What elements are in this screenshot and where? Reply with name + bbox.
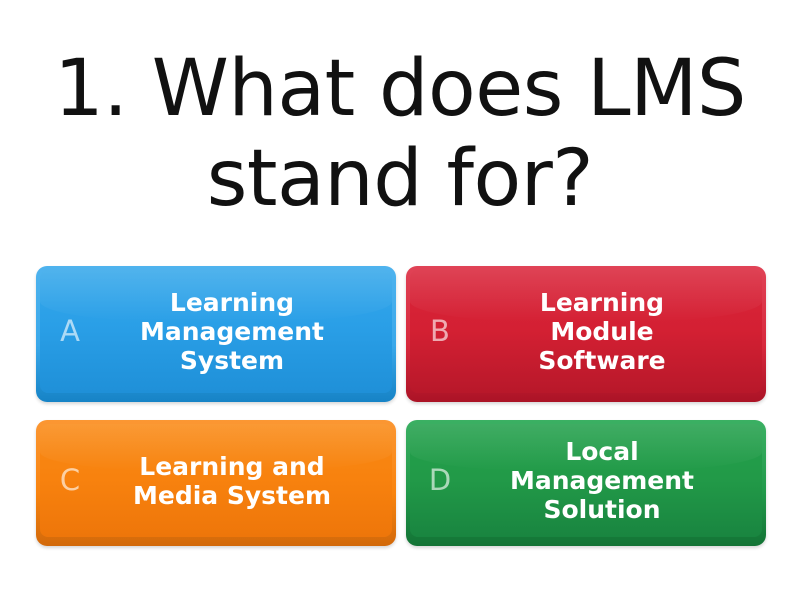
answer-option-b-face[interactable]: B Learning Module Software — [410, 270, 762, 393]
answer-letter-d: D — [420, 466, 460, 495]
answer-label-b: Learning Module Software — [502, 288, 710, 375]
answer-letter-c: C — [50, 466, 90, 495]
question-text: 1. What does LMS stand for? — [20, 44, 780, 225]
quiz-slide: 1. What does LMS stand for? A Learning M… — [0, 0, 800, 600]
answer-label-d: Local Management Solution — [471, 437, 741, 524]
answer-letter-b: B — [420, 317, 460, 346]
answer-option-c[interactable]: C Learning and Media System — [36, 420, 396, 546]
answer-letter-a: A — [50, 317, 90, 346]
answer-option-b[interactable]: B Learning Module Software — [406, 266, 766, 402]
question-area: 1. What does LMS stand for? — [0, 18, 800, 250]
answer-option-c-face[interactable]: C Learning and Media System — [40, 424, 392, 537]
answer-option-d-face[interactable]: D Local Management Solution — [410, 424, 762, 537]
answer-options-grid: A Learning Management System B Learning … — [36, 266, 766, 546]
answer-option-d[interactable]: D Local Management Solution — [406, 420, 766, 546]
answer-option-a-face[interactable]: A Learning Management System — [40, 270, 392, 393]
answer-label-c: Learning and Media System — [107, 452, 365, 510]
answer-label-a: Learning Management System — [98, 288, 374, 375]
answer-option-a[interactable]: A Learning Management System — [36, 266, 396, 402]
